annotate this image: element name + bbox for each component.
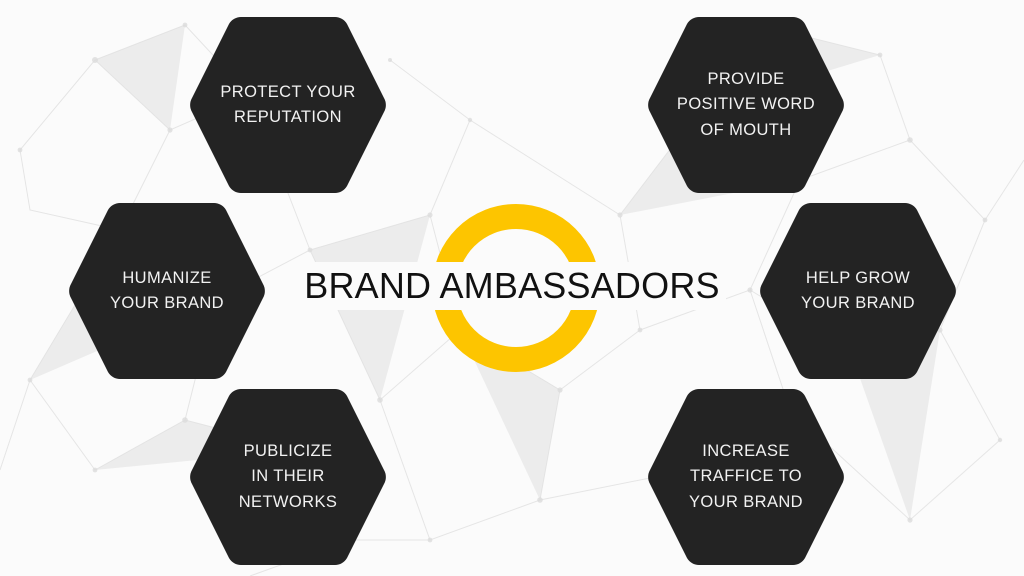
hexagon-label-line: HELP GROW — [773, 266, 943, 291]
hexagon-label: HUMANIZE YOUR BRAND — [82, 266, 252, 316]
hexagon-label: PROTECT YOUR REPUTATION — [203, 80, 373, 130]
hexagon-help-grow-your-brand[interactable]: HELP GROW YOUR BRAND — [757, 199, 959, 383]
hexagon-protect-reputation[interactable]: PROTECT YOUR REPUTATION — [187, 13, 389, 197]
hexagon-label-line: IN THEIR — [203, 464, 373, 489]
hexagon-label-line: NETWORKS — [203, 490, 373, 515]
hexagon-label-line: YOUR BRAND — [661, 490, 831, 515]
hexagon-label-line: HUMANIZE — [82, 266, 252, 291]
hexagon-label: PUBLICIZE IN THEIR NETWORKS — [203, 439, 373, 514]
hexagon-provide-positive-word-of-mouth[interactable]: PROVIDE POSITIVE WORD OF MOUTH — [645, 13, 847, 197]
hexagon-humanize-your-brand[interactable]: HUMANIZE YOUR BRAND — [66, 199, 268, 383]
hexagon-label-line: PROTECT YOUR — [203, 80, 373, 105]
hexagon-label-line: YOUR BRAND — [82, 291, 252, 316]
hexagon-label-line: INCREASE — [661, 439, 831, 464]
hexagon-label-line: PROVIDE — [661, 67, 831, 92]
hexagon-label-line: TRAFFICE TO — [661, 464, 831, 489]
hexagon-label-line: PUBLICIZE — [203, 439, 373, 464]
hexagon-label-line: YOUR BRAND — [773, 291, 943, 316]
hexagon-label-line: POSITIVE WORD — [661, 92, 831, 117]
hexagon-label: PROVIDE POSITIVE WORD OF MOUTH — [661, 67, 831, 142]
center-ring-graphic — [432, 204, 600, 372]
hexagon-label: HELP GROW YOUR BRAND — [773, 266, 943, 316]
hexagon-increase-traffic-to-your-brand[interactable]: INCREASE TRAFFICE TO YOUR BRAND — [645, 385, 847, 569]
hexagon-label-line: OF MOUTH — [661, 118, 831, 143]
hexagon-label-line: REPUTATION — [203, 105, 373, 130]
slide-canvas: PROTECT YOUR REPUTATION PROVIDE POSITIVE… — [0, 0, 1024, 576]
hexagon-label: INCREASE TRAFFICE TO YOUR BRAND — [661, 439, 831, 514]
hexagon-publicize-in-their-networks[interactable]: PUBLICIZE IN THEIR NETWORKS — [187, 385, 389, 569]
